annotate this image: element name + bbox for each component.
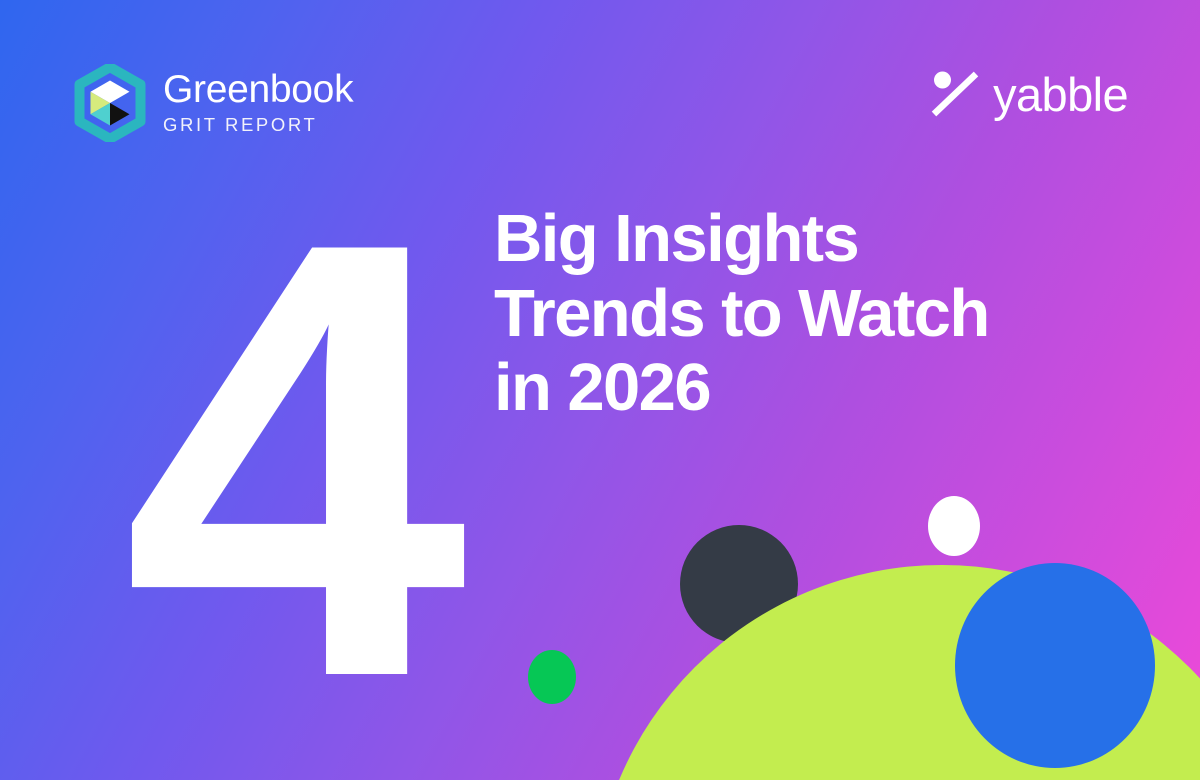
hero-headline: Big Insights Trends to Watch in 2026 [494, 202, 989, 426]
yabble-slash-dot-icon [928, 66, 984, 122]
headline-line-2: Trends to Watch [494, 277, 989, 352]
yabble-brand-name: yabble [993, 71, 1128, 118]
hero-numeral: 4 [58, 150, 518, 770]
headline-line-3: in 2026 [494, 351, 989, 426]
decorative-white-circle [928, 496, 980, 556]
headline-line-1: Big Insights [494, 202, 989, 277]
yabble-logo-lockup: yabble [928, 66, 1128, 122]
greenbook-brand-name: Greenbook [163, 70, 353, 110]
decorative-blue-circle [955, 563, 1155, 768]
decorative-green-circle [528, 650, 576, 704]
promo-graphic-canvas: Greenbook GRIT REPORT yabble 4 Big Insig… [0, 0, 1200, 780]
